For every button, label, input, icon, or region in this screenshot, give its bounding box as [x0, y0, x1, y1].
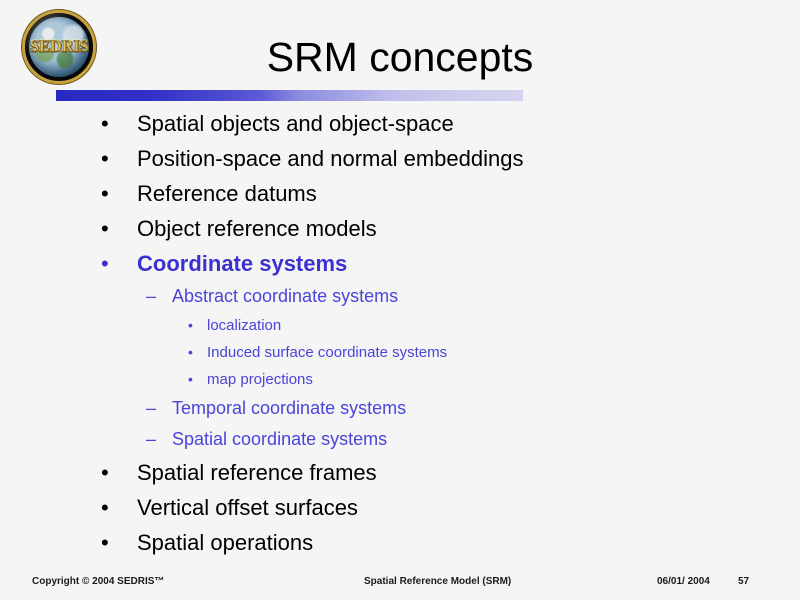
- bullet-text: Coordinate systems: [137, 246, 800, 281]
- bullet-item-level3: •localization: [0, 312, 800, 339]
- bullet-text: Vertical offset surfaces: [137, 490, 800, 525]
- bullet-marker-icon: •: [101, 106, 109, 141]
- bullet-marker-icon: –: [146, 424, 156, 455]
- bullet-marker-icon: •: [101, 246, 109, 281]
- bullet-marker-icon: •: [188, 339, 193, 366]
- bullet-item-level2: –Temporal coordinate systems: [0, 393, 800, 424]
- slide-footer: Copyright © 2004 SEDRIS™ Spatial Referen…: [0, 566, 800, 600]
- bullet-marker-icon: •: [101, 211, 109, 246]
- bullet-item-level1: •Spatial objects and object-space: [0, 106, 800, 141]
- bullet-item-level1: •Spatial operations: [0, 525, 800, 560]
- bullet-text: Spatial operations: [137, 525, 800, 560]
- bullet-marker-icon: •: [101, 176, 109, 211]
- bullet-marker-icon: •: [188, 312, 193, 339]
- logo-wordmark: SEDRIS: [25, 37, 93, 57]
- bullet-text: Abstract coordinate systems: [172, 281, 800, 312]
- bullet-item-level3: •map projections: [0, 366, 800, 393]
- bullet-text: Position-space and normal embeddings: [137, 141, 800, 176]
- bullet-marker-icon: •: [101, 141, 109, 176]
- bullet-text: Spatial coordinate systems: [172, 424, 800, 455]
- bullet-text: Temporal coordinate systems: [172, 393, 800, 424]
- footer-date: 06/01/ 2004: [657, 576, 710, 587]
- bullet-item-level1: •Reference datums: [0, 176, 800, 211]
- bullet-marker-icon: •: [101, 490, 109, 525]
- bullet-text: map projections: [207, 366, 800, 393]
- bullet-text: Object reference models: [137, 211, 800, 246]
- bullet-item-level1: •Position-space and normal embeddings: [0, 141, 800, 176]
- footer-copyright: Copyright © 2004 SEDRIS™: [32, 576, 164, 587]
- bullet-item-level2: –Spatial coordinate systems: [0, 424, 800, 455]
- bullet-text: Spatial objects and object-space: [137, 106, 800, 141]
- bullet-marker-icon: –: [146, 393, 156, 424]
- bullet-marker-icon: •: [101, 455, 109, 490]
- bullet-text: localization: [207, 312, 800, 339]
- bullet-item-level1: •Spatial reference frames: [0, 455, 800, 490]
- bullet-item-level3: •Induced surface coordinate systems: [0, 339, 800, 366]
- page-title: SRM concepts: [120, 34, 680, 80]
- bullet-text: Reference datums: [137, 176, 800, 211]
- sedris-logo: SEDRIS: [22, 10, 96, 84]
- bullet-item-level1: •Vertical offset surfaces: [0, 490, 800, 525]
- title-underline-gradient: [56, 90, 523, 101]
- footer-page-number: 57: [738, 576, 749, 587]
- bullet-text: Induced surface coordinate systems: [207, 339, 800, 366]
- bullet-item-level1: •Coordinate systems: [0, 246, 800, 281]
- footer-document-title: Spatial Reference Model (SRM): [364, 576, 511, 587]
- bullet-item-level1: •Object reference models: [0, 211, 800, 246]
- bullet-list: •Spatial objects and object-space•Positi…: [0, 106, 800, 560]
- bullet-item-level2: –Abstract coordinate systems: [0, 281, 800, 312]
- bullet-marker-icon: •: [101, 525, 109, 560]
- slide-canvas: SEDRIS SRM concepts •Spatial objects and…: [0, 0, 800, 600]
- bullet-marker-icon: •: [188, 366, 193, 393]
- bullet-marker-icon: –: [146, 281, 156, 312]
- bullet-text: Spatial reference frames: [137, 455, 800, 490]
